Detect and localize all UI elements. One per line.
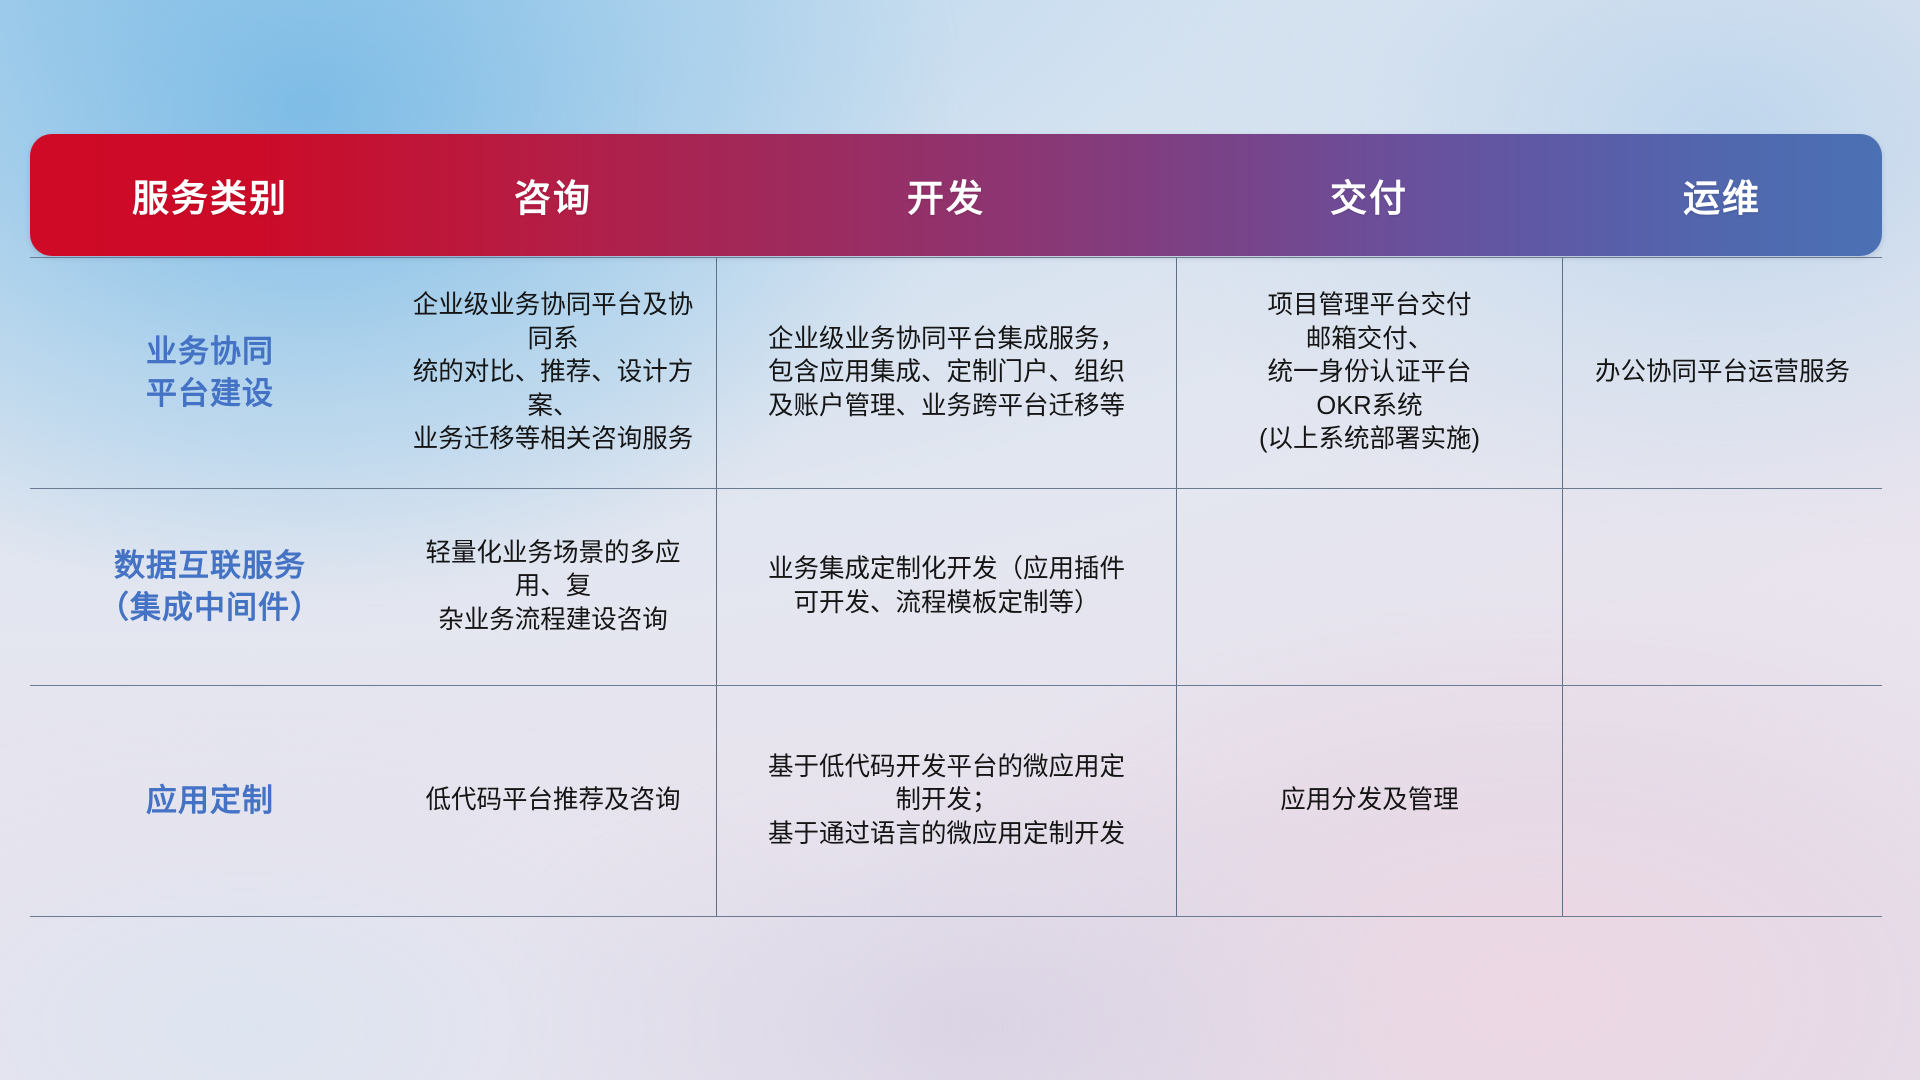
table-row: 数据互联服务 （集成中间件） 轻量化业务场景的多应用、复 杂业务流程建设咨询 业… xyxy=(30,489,1882,686)
header-cell-service-category: 服务类别 xyxy=(30,134,390,256)
cell-development-row-0: 企业级业务协同平台集成服务， 包含应用集成、定制门户、组织 及账户管理、业务跨平… xyxy=(716,258,1176,488)
row-label-app-customization: 应用定制 xyxy=(30,686,390,916)
header-cell-delivery: 交付 xyxy=(1176,134,1562,256)
cell-operations-row-1 xyxy=(1562,489,1882,685)
header-cell-operations: 运维 xyxy=(1562,134,1882,256)
table-row: 业务协同 平台建设 企业级业务协同平台及协同系 统的对比、推荐、设计方案、 业务… xyxy=(30,257,1882,489)
cell-consulting-row-0: 企业级业务协同平台及协同系 统的对比、推荐、设计方案、 业务迁移等相关咨询服务 xyxy=(390,258,716,488)
cell-operations-row-2 xyxy=(1562,686,1882,916)
row-label-data-interconnect: 数据互联服务 （集成中间件） xyxy=(30,489,390,685)
header-cell-development: 开发 xyxy=(716,134,1176,256)
cell-delivery-row-0: 项目管理平台交付 邮箱交付、 统一身份认证平台 OKR系统 (以上系统部署实施) xyxy=(1176,258,1562,488)
cell-development-row-1: 业务集成定制化开发（应用插件 可开发、流程模板定制等） xyxy=(716,489,1176,685)
cell-consulting-row-2: 低代码平台推荐及咨询 xyxy=(390,686,716,916)
cell-delivery-row-1 xyxy=(1176,489,1562,685)
table-body: 业务协同 平台建设 企业级业务协同平台及协同系 统的对比、推荐、设计方案、 业务… xyxy=(30,257,1882,917)
cell-operations-row-0: 办公协同平台运营服务 xyxy=(1562,258,1882,488)
table-row: 应用定制 低代码平台推荐及咨询 基于低代码开发平台的微应用定 制开发； 基于通过… xyxy=(30,686,1882,917)
cell-development-row-2: 基于低代码开发平台的微应用定 制开发； 基于通过语言的微应用定制开发 xyxy=(716,686,1176,916)
row-label-business-collaboration: 业务协同 平台建设 xyxy=(30,258,390,488)
cell-delivery-row-2: 应用分发及管理 xyxy=(1176,686,1562,916)
cell-consulting-row-1: 轻量化业务场景的多应用、复 杂业务流程建设咨询 xyxy=(390,489,716,685)
table-header-row: 服务类别 咨询 开发 交付 运维 xyxy=(30,134,1882,256)
service-category-table: 服务类别 咨询 开发 交付 运维 业务协同 平台建设 企业级业务协同平台及协同系… xyxy=(30,134,1882,917)
header-cell-consulting: 咨询 xyxy=(390,134,716,256)
